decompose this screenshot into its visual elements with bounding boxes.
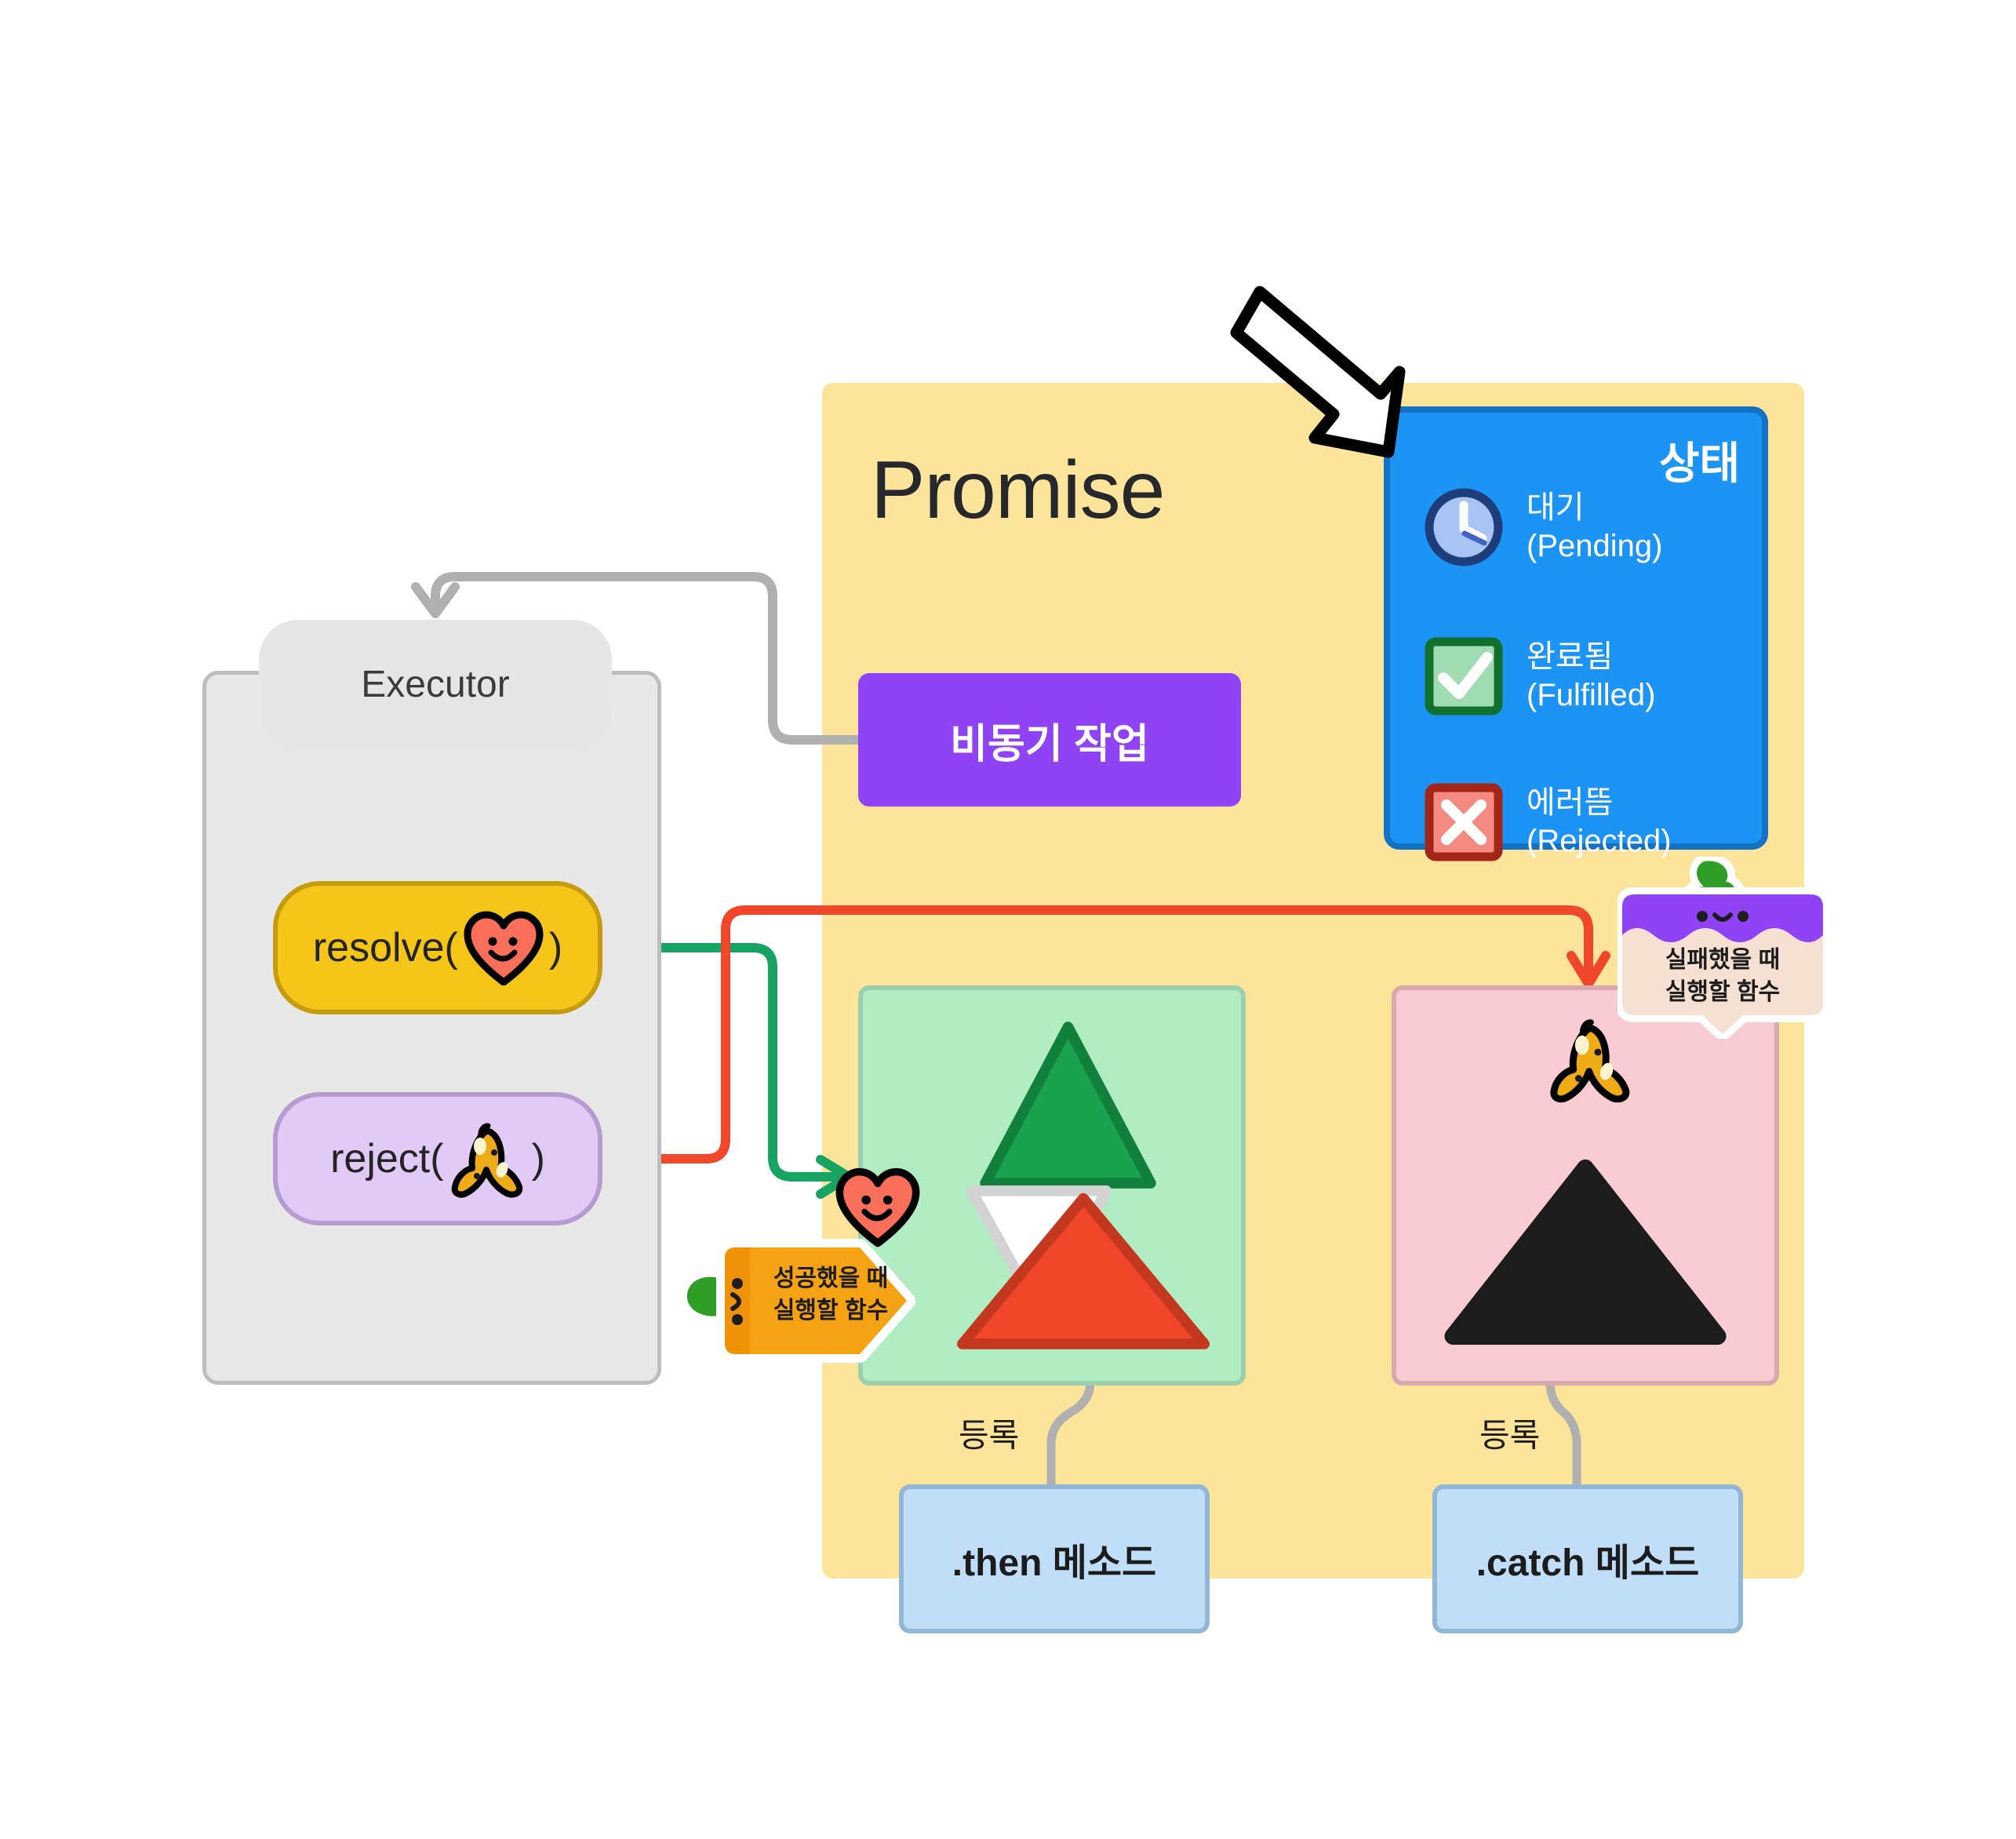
state-row-pending: 대기 (Pending) — [1421, 485, 1662, 570]
resolve-label-suffix: ) — [549, 924, 562, 971]
state-label-fulfilled: 완료됨 (Fulfilled) — [1527, 638, 1655, 715]
failure-callout-line2: 실행할 함수 — [1665, 979, 1780, 1005]
state-row-fulfilled: 완료됨 (Fulfilled) — [1421, 634, 1655, 719]
state-label-rejected-en: (Rejected) — [1527, 822, 1672, 861]
cross-icon — [1421, 780, 1506, 865]
reject-button[interactable]: reject( ) — [273, 1092, 602, 1225]
catch-method-box[interactable]: .catch 메소드 — [1432, 1484, 1743, 1633]
state-label-pending: 대기 (Pending) — [1527, 489, 1662, 566]
register-label-catch: 등록 — [1479, 1409, 1540, 1457]
smiling-heart-emoji — [463, 910, 544, 985]
resolve-button[interactable]: resolve( ) — [273, 881, 602, 1014]
black-triangle-up — [1453, 1168, 1718, 1337]
register-label-then: 등록 — [959, 1409, 1019, 1457]
executor-body — [202, 671, 661, 1385]
executor-tab: Executor — [259, 620, 612, 749]
smiling-heart-emoji — [835, 1166, 921, 1247]
clock-icon — [1421, 485, 1506, 570]
check-icon — [1421, 634, 1506, 719]
success-callout-text: 성공했을 때 실행할 함수 — [756, 1263, 905, 1327]
then-method-label: .then 메소드 — [952, 1531, 1156, 1586]
reject-label-suffix: ) — [532, 1135, 545, 1182]
state-label-rejected: 에러뜸 (Rejected) — [1527, 784, 1672, 861]
state-row-rejected: 에러뜸 (Rejected) — [1421, 780, 1672, 865]
failure-callout-line1: 실패했을 때 — [1665, 947, 1780, 973]
state-label-fulfilled-en: (Fulfilled) — [1527, 676, 1655, 715]
state-panel: 상태 대기 (Pending) 완료됨 — [1384, 406, 1768, 850]
state-label-pending-en: (Pending) — [1527, 527, 1662, 566]
catch-method-label: .catch 메소드 — [1476, 1531, 1700, 1586]
green-triangle-up — [985, 1027, 1151, 1183]
failure-callout-text: 실패했을 때 실행할 함수 — [1618, 945, 1828, 1008]
banana-peel-emoji — [449, 1118, 527, 1200]
executor-tab-label: Executor — [361, 663, 509, 706]
success-callout-line1: 성공했을 때 — [773, 1265, 888, 1291]
catch-result-panel — [1392, 985, 1779, 1386]
async-task-label: 비동기 작업 — [950, 711, 1149, 770]
state-panel-title: 상태 — [1659, 428, 1740, 492]
reject-label-prefix: reject( — [330, 1135, 443, 1182]
state-label-pending-ko: 대기 — [1527, 490, 1585, 525]
success-callout: 성공했을 때 실행할 함수 — [681, 1238, 924, 1364]
async-task-box[interactable]: 비동기 작업 — [858, 673, 1241, 807]
state-label-fulfilled-ko: 완료됨 — [1527, 639, 1613, 674]
hand-drawn-arrow-icon — [1214, 276, 1409, 466]
diagram-canvas: Promise Executor resolve( — [0, 0, 2016, 1839]
success-callout-line2: 실행할 함수 — [773, 1298, 888, 1324]
failure-callout: 실패했을 때 실행할 함수 — [1618, 857, 1828, 1039]
then-method-box[interactable]: .then 메소드 — [899, 1484, 1210, 1633]
resolve-label-prefix: resolve( — [313, 924, 458, 971]
state-label-rejected-ko: 에러뜸 — [1527, 785, 1613, 820]
